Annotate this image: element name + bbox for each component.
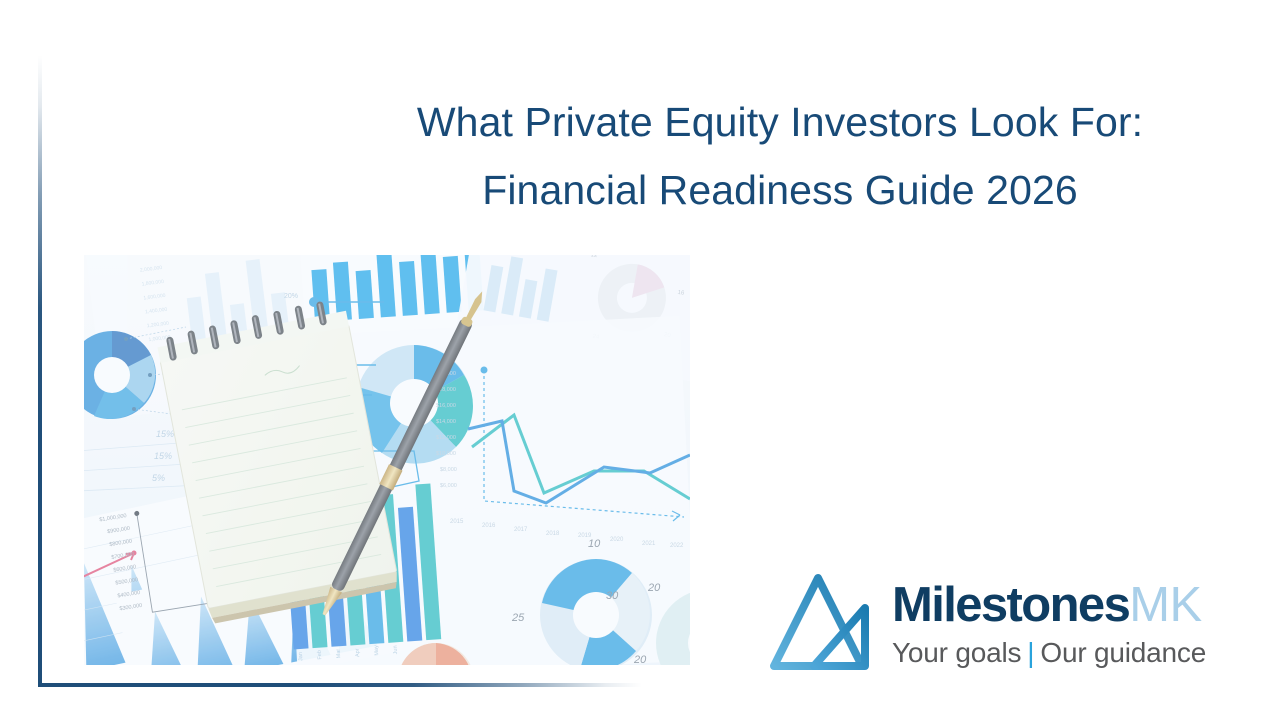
tagline-separator: |	[1021, 637, 1040, 668]
brand-name-secondary: MK	[1129, 578, 1202, 632]
financial-charts-illustration: 2,000,0001,800,000 1,600,0001,400,000 1,…	[84, 255, 690, 665]
brand-name-row: MilestonesMK	[892, 578, 1206, 632]
brand-wordmark: MilestonesMK Your goals|Our guidance	[892, 578, 1206, 670]
brand-name-primary: Milestones	[892, 578, 1129, 632]
hero-photo-financial-charts: 2,000,0001,800,000 1,600,0001,400,000 1,…	[84, 255, 690, 665]
brand-logo: MilestonesMK Your goals|Our guidance	[766, 568, 1244, 678]
border-accent-horizontal	[38, 683, 642, 687]
milestones-arrow-mark-icon	[766, 570, 878, 674]
title-line-1: What Private Equity Investors Look For:	[300, 88, 1260, 156]
brand-tagline: Your goals|Our guidance	[892, 636, 1206, 670]
title-line-2: Financial Readiness Guide 2026	[300, 156, 1260, 224]
slide-title: What Private Equity Investors Look For: …	[300, 88, 1260, 224]
border-accent-vertical	[38, 55, 42, 687]
tagline-left: Your goals	[892, 637, 1021, 668]
tagline-right: Our guidance	[1040, 637, 1206, 668]
slide-canvas: What Private Equity Investors Look For: …	[0, 0, 1280, 720]
